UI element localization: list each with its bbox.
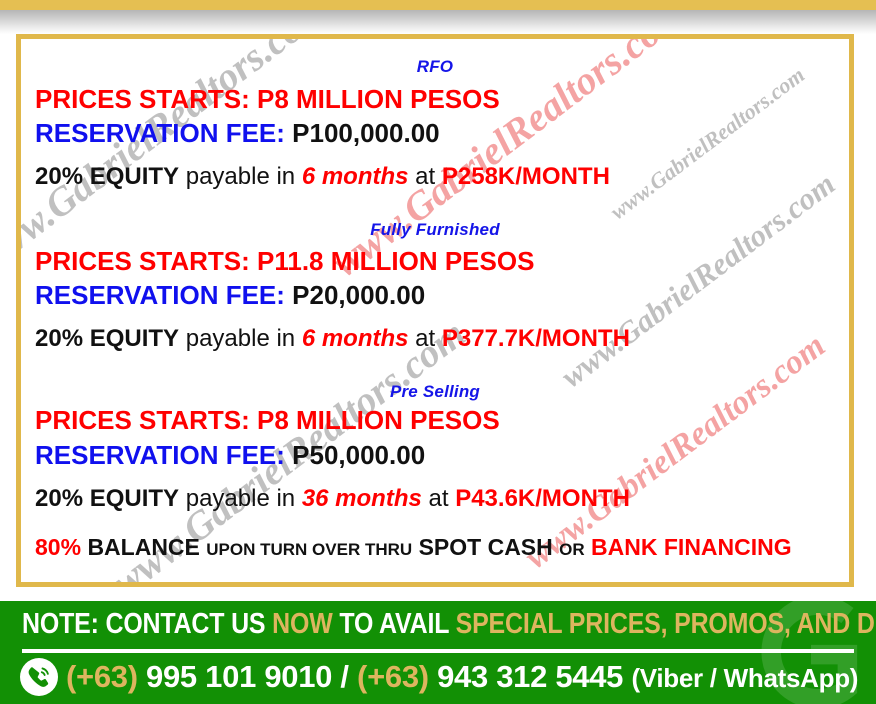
balance-percent: 80% (35, 534, 81, 560)
fee-label: RESERVATION FEE: (35, 440, 285, 470)
note-offer: SPECIAL PRICES, PROMOS, AND DISCOUNTS! (456, 608, 876, 640)
price-value: P11.8 MILLION PESOS (257, 246, 534, 276)
price-line-rfo: PRICES STARTS: P8 MILLION PESOS (35, 84, 500, 115)
balance-terms: UPON TURN OVER THRU (206, 540, 412, 559)
watermark-text: www.GabrielRealtors.com (605, 62, 809, 225)
section-label-fully-furnished: Fully Furnished (21, 220, 849, 240)
balance-option-spot-cash: SPOT CASH (419, 534, 553, 560)
footer-divider (22, 649, 854, 653)
price-label: PRICES STARTS: (35, 84, 250, 114)
equity-connector: payable in (179, 163, 302, 190)
contact-phone-row[interactable]: (+63) 995 101 9010 / (+63) 943 312 5445 … (20, 658, 858, 696)
fee-value: P20,000.00 (292, 280, 425, 310)
contact-footer: NOTE: CONTACT US NOW TO AVAIL SPECIAL PR… (0, 601, 876, 704)
country-code-one: (+63) (66, 659, 138, 694)
fee-label: RESERVATION FEE: (35, 118, 285, 148)
price-line-fully-furnished: PRICES STARTS: P11.8 MILLION PESOS (35, 246, 534, 277)
messaging-apps-label: (Viber / WhatsApp) (631, 663, 858, 693)
balance-word: BALANCE (87, 534, 199, 560)
fee-value: P100,000.00 (292, 118, 439, 148)
watermark-text: www.GabrielRealtors.com (554, 166, 842, 395)
note-now: NOW (272, 608, 332, 640)
top-shadow-gradient (0, 10, 876, 34)
price-label: PRICES STARTS: (35, 246, 250, 276)
price-value: P8 MILLION PESOS (257, 405, 500, 435)
equity-months: 6 months (302, 325, 409, 352)
equity-at: at (422, 485, 455, 512)
equity-at: at (409, 325, 442, 352)
phone-number-two: 943 312 5445 (429, 659, 632, 694)
equity-at: at (409, 163, 442, 190)
equity-connector: payable in (179, 325, 302, 352)
price-value: P8 MILLION PESOS (257, 84, 500, 114)
equity-months: 6 months (302, 163, 409, 190)
equity-line-rfo: 20% EQUITY payable in 6 months at P258K/… (35, 163, 610, 191)
equity-amount: P258K/MONTH (442, 163, 610, 190)
fee-label: RESERVATION FEE: (35, 280, 285, 310)
balance-option-bank-financing: BANK FINANCING (591, 534, 792, 560)
country-code-two: (+63) (357, 659, 429, 694)
offer-panel: www.GabrielRealtors.com www.GabrielRealt… (16, 34, 854, 587)
section-label-rfo: RFO (21, 57, 849, 77)
balance-conjunction: OR (559, 540, 585, 559)
equity-connector: payable in (179, 485, 302, 512)
fee-value: P50,000.00 (292, 440, 425, 470)
balance-line: 80% BALANCE UPON TURN OVER THRU SPOT CAS… (35, 534, 792, 561)
equity-percent: 20% EQUITY (35, 325, 179, 352)
equity-line-pre-selling: 20% EQUITY payable in 36 months at P43.6… (35, 485, 630, 513)
note-prefix: NOTE: CONTACT US (22, 608, 272, 640)
note-mid: TO AVAIL (333, 608, 456, 640)
equity-amount: P43.6K/MONTH (455, 485, 630, 512)
equity-line-fully-furnished: 20% EQUITY payable in 6 months at P377.7… (35, 325, 630, 353)
equity-percent: 20% EQUITY (35, 485, 179, 512)
equity-percent: 20% EQUITY (35, 163, 179, 190)
phone-separator: / (340, 659, 357, 694)
phone-call-icon (20, 658, 58, 696)
note-headline: NOTE: CONTACT US NOW TO AVAIL SPECIAL PR… (22, 608, 876, 641)
fee-line-pre-selling: RESERVATION FEE: P50,000.00 (35, 440, 425, 471)
fee-line-fully-furnished: RESERVATION FEE: P20,000.00 (35, 280, 425, 311)
phone-number-one: 995 101 9010 (138, 659, 341, 694)
price-label: PRICES STARTS: (35, 405, 250, 435)
phone-numbers: (+63) 995 101 9010 / (+63) 943 312 5445 … (66, 659, 858, 695)
equity-amount: P377.7K/MONTH (442, 325, 630, 352)
top-gold-strip (0, 0, 876, 10)
price-line-pre-selling: PRICES STARTS: P8 MILLION PESOS (35, 405, 500, 436)
section-label-pre-selling: Pre Selling (21, 382, 849, 402)
equity-months: 36 months (302, 485, 422, 512)
fee-line-rfo: RESERVATION FEE: P100,000.00 (35, 118, 440, 149)
